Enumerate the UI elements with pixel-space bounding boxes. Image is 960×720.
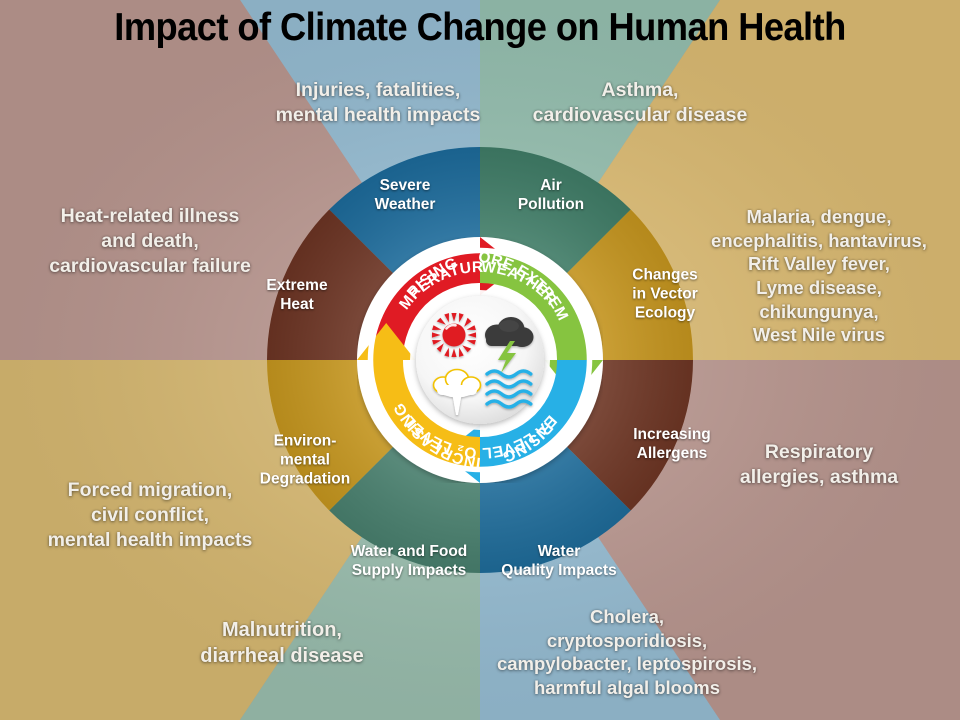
climate-driver-wheel: RISING TEMPERATURES MORE EXTREME WEATHER… (357, 237, 603, 483)
page-title: Impact of Climate Change on Human Health (34, 8, 927, 49)
sun-icon (432, 313, 476, 357)
infographic-canvas: Impact of Climate Change on Human Health… (0, 0, 960, 720)
wheel-core (416, 296, 544, 424)
